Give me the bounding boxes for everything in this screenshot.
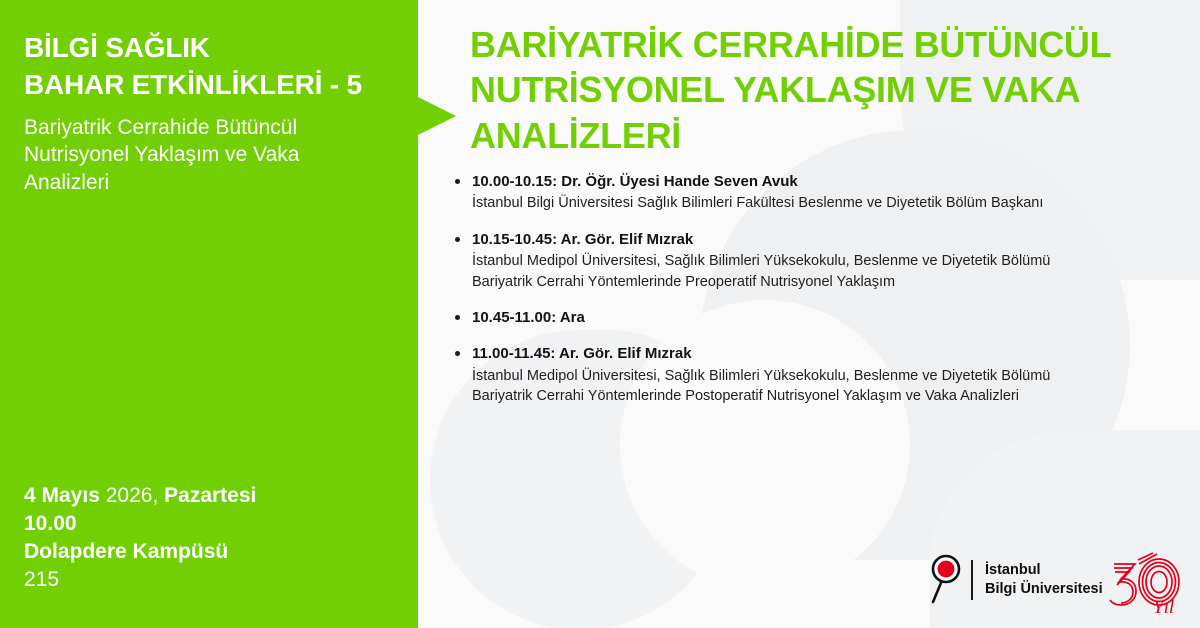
series-subtitle: Bariyatrik Cerrahide Bütüncül Nutrisyone… xyxy=(24,114,404,196)
anniversary-word-text: Yıl xyxy=(1153,597,1174,617)
event-day-bold: Pazartesi xyxy=(164,484,256,507)
program-item-body: İstanbul Medipol Üniversitesi, Sağlık Bi… xyxy=(472,366,1172,407)
event-date-line: 4 Mayıs 2026, Pazartesi xyxy=(24,482,404,510)
page-title: BARİYATRİK CERRAHİDE BÜTÜNCÜL NUTRİSYONE… xyxy=(470,22,1170,158)
program-item-body: İstanbul Medipol Üniversitesi, Sağlık Bi… xyxy=(472,251,1172,292)
event-venue: Dolapdere Kampüsü xyxy=(24,540,228,563)
program-item-head: 10.00-10.15: Dr. Öğr. Üyesi Hande Seven … xyxy=(472,172,1172,192)
program-item-head: 10.15-10.45: Ar. Gör. Elif Mızrak xyxy=(472,230,1172,250)
event-time: 10.00 xyxy=(24,512,77,535)
30th-anniversary-logo-icon: Yıl xyxy=(1108,551,1186,617)
bilgi-pin-icon xyxy=(925,552,965,608)
program-item: 10.45-11.00: Ara xyxy=(452,308,1172,328)
program-item-body: İstanbul Bilgi Üniversitesi Sağlık Bilim… xyxy=(472,193,1172,214)
series-branding-block: BİLGİ SAĞLIK BAHAR ETKİNLİKLERİ - 5 Bari… xyxy=(24,30,404,196)
event-date-bold: 4 Mayıs xyxy=(24,484,100,507)
event-room: 215 xyxy=(24,568,59,591)
program-item: 10.15-10.45: Ar. Gör. Elif Mızrakİstanbu… xyxy=(452,230,1172,292)
logo-divider xyxy=(971,560,973,600)
event-year: 2026, xyxy=(106,484,159,507)
program-item-head: 10.45-11.00: Ara xyxy=(472,308,1172,328)
program-item-head: 11.00-11.45: Ar. Gör. Elif Mızrak xyxy=(472,344,1172,364)
event-poster: BİLGİ SAĞLIK BAHAR ETKİNLİKLERİ - 5 Bari… xyxy=(0,0,1200,628)
event-details-block: 4 Mayıs 2026, Pazartesi 10.00 Dolapdere … xyxy=(24,482,404,595)
event-venue-line: Dolapdere Kampüsü xyxy=(24,538,404,566)
series-title: BİLGİ SAĞLIK BAHAR ETKİNLİKLERİ - 5 xyxy=(24,30,404,104)
program-list: 10.00-10.15: Dr. Öğr. Üyesi Hande Seven … xyxy=(452,172,1172,423)
university-name: İstanbul Bilgi Üniversitesi xyxy=(985,561,1103,599)
event-time-line: 10.00 xyxy=(24,510,404,538)
university-logo: İstanbul Bilgi Üniversitesi xyxy=(925,552,1103,608)
green-arrow-pointer-icon xyxy=(418,97,456,135)
program-item: 10.00-10.15: Dr. Öğr. Üyesi Hande Seven … xyxy=(452,172,1172,214)
event-room-line: 215 xyxy=(24,566,404,594)
main-title-block: BARİYATRİK CERRAHİDE BÜTÜNCÜL NUTRİSYONE… xyxy=(470,22,1170,158)
program-item: 11.00-11.45: Ar. Gör. Elif Mızrakİstanbu… xyxy=(452,344,1172,406)
